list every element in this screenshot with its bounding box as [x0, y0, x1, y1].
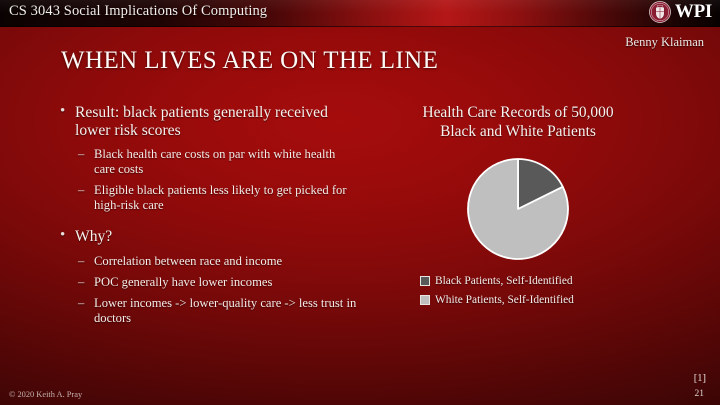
- spacer: [58, 219, 358, 228]
- slide-number: 21: [695, 389, 705, 399]
- chart-panel: Health Care Records of 50,000 Black and …: [368, 104, 668, 313]
- bullet-list: • Result: black patients generally recei…: [58, 104, 358, 332]
- wpi-seal-icon: [649, 1, 671, 23]
- pie-chart: [368, 156, 668, 262]
- legend-label: White Patients, Self-Identified: [435, 294, 574, 306]
- legend-label: Black Patients, Self-Identified: [435, 275, 573, 287]
- bullet-text: POC generally have lower incomes: [94, 275, 272, 289]
- bullet-item: – Eligible black patients less likely to…: [58, 183, 358, 213]
- dash-marker-icon: –: [78, 147, 84, 162]
- bullet-text: Lower incomes -> lower-quality care -> l…: [94, 296, 356, 325]
- bullet-item: – POC generally have lower incomes: [58, 275, 358, 290]
- slide-title: WHEN LIVES ARE ON THE LINE: [61, 47, 438, 75]
- legend-swatch-icon: [420, 276, 430, 286]
- wpi-wordmark: WPI: [675, 1, 712, 23]
- bullet-marker-icon: •: [60, 227, 65, 245]
- chart-title-line-1: Health Care Records of 50,000: [382, 104, 654, 123]
- dash-marker-icon: –: [78, 183, 84, 198]
- chart-title: Health Care Records of 50,000 Black and …: [382, 104, 654, 142]
- wpi-logo: WPI: [649, 1, 712, 23]
- chart-legend: Black Patients, Self-Identified White Pa…: [368, 275, 668, 306]
- legend-item: White Patients, Self-Identified: [420, 294, 668, 306]
- bullet-item: – Correlation between race and income: [58, 254, 358, 269]
- dash-marker-icon: –: [78, 275, 84, 290]
- bullet-marker-icon: •: [60, 103, 65, 121]
- pie-chart-svg: [465, 156, 571, 262]
- dash-marker-icon: –: [78, 296, 84, 311]
- citation-reference: [1]: [694, 373, 706, 384]
- bullet-item: • Result: black patients generally recei…: [58, 104, 358, 140]
- presentation-slide: CS 3043 Social Implications Of Computing…: [0, 0, 720, 405]
- dash-marker-icon: –: [78, 254, 84, 269]
- legend-swatch-icon: [420, 295, 430, 305]
- bullet-text: Why?: [75, 228, 112, 245]
- bullet-item: – Lower incomes -> lower-quality care ->…: [58, 296, 358, 326]
- legend-item: Black Patients, Self-Identified: [420, 275, 668, 287]
- bullet-text: Result: black patients generally receive…: [75, 104, 328, 139]
- bullet-text: Eligible black patients less likely to g…: [94, 183, 347, 212]
- slide-header-band: CS 3043 Social Implications Of Computing…: [0, 0, 720, 27]
- copyright-notice: © 2020 Keith A. Pray: [9, 390, 82, 399]
- bullet-text: Correlation between race and income: [94, 254, 282, 268]
- bullet-item: – Black health care costs on par with wh…: [58, 147, 358, 177]
- chart-title-line-2: Black and White Patients: [382, 123, 654, 142]
- author-name: Benny Klaiman: [625, 35, 704, 50]
- bullet-item: • Why?: [58, 228, 358, 246]
- bullet-text: Black health care costs on par with whit…: [94, 147, 335, 176]
- course-title: CS 3043 Social Implications Of Computing: [9, 3, 267, 20]
